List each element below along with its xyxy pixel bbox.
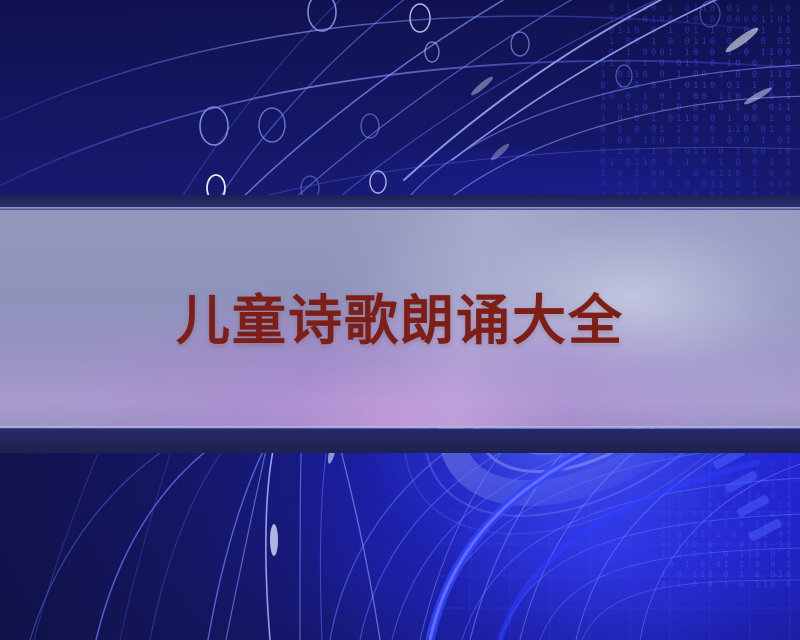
sweeping-curves-lower [30,430,380,640]
curve-sparkle [270,440,338,556]
streak-sparkle [469,25,773,162]
title-container: 儿童诗歌朗诵大全 [0,210,800,428]
orbit-ring [200,0,720,201]
banner-image: 0 1 00 1 0110 01 0 1 0 1 0 0100 10 0 000… [0,0,800,640]
page-title: 儿童诗歌朗诵大全 [176,294,624,348]
banner-bottom-bar [0,429,800,453]
diagonal-streaks-upper [174,0,760,210]
